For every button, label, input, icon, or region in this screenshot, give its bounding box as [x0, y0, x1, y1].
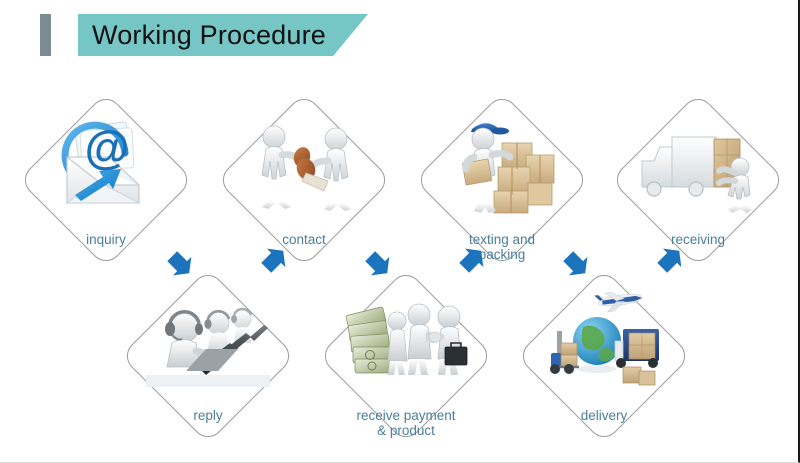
arrow-inquiry-to-reply	[163, 247, 197, 281]
step-label-delivery: delivery	[516, 408, 692, 423]
step-label-reply: reply	[120, 408, 296, 423]
step-node-delivery[interactable]: delivery	[516, 268, 692, 444]
slide-canvas: Working Procedure	[0, 0, 800, 463]
svg-text:@: @	[85, 121, 130, 173]
email-envelope-at-icon: @	[42, 110, 170, 220]
step-node-receiving[interactable]: receiving	[610, 92, 786, 268]
step-label-contact: contact	[216, 232, 392, 247]
step-node-payment[interactable]: receive payment & product	[318, 268, 494, 444]
call-center-headset-icon	[144, 286, 272, 396]
step-label-receiving: receiving	[610, 232, 786, 247]
title-accent-bar	[40, 14, 51, 56]
globe-truck-forklift-plane-icon	[540, 286, 668, 396]
arrow-delivery-to-receiving	[653, 243, 687, 277]
title-bar: Working Procedure	[0, 0, 800, 72]
arrow-packing-to-delivery	[559, 247, 593, 281]
arrow-payment-to-packing	[455, 243, 489, 277]
two-people-communicating-icon	[240, 110, 368, 220]
page-title: Working Procedure	[92, 14, 326, 56]
step-node-reply[interactable]: reply	[120, 268, 296, 444]
step-node-contact[interactable]: contact	[216, 92, 392, 268]
arrow-contact-to-payment	[361, 247, 395, 281]
worker-with-boxes-icon	[438, 110, 566, 220]
step-node-inquiry[interactable]: @ inquiry	[18, 92, 194, 268]
step-label-inquiry: inquiry	[18, 232, 194, 247]
delivery-truck-unloading-icon	[634, 110, 762, 220]
money-handshake-briefcase-icon	[342, 286, 470, 396]
step-label-payment: receive payment & product	[318, 408, 494, 438]
arrow-reply-to-contact	[257, 243, 291, 277]
step-node-packing[interactable]: texting and packing	[414, 92, 590, 268]
